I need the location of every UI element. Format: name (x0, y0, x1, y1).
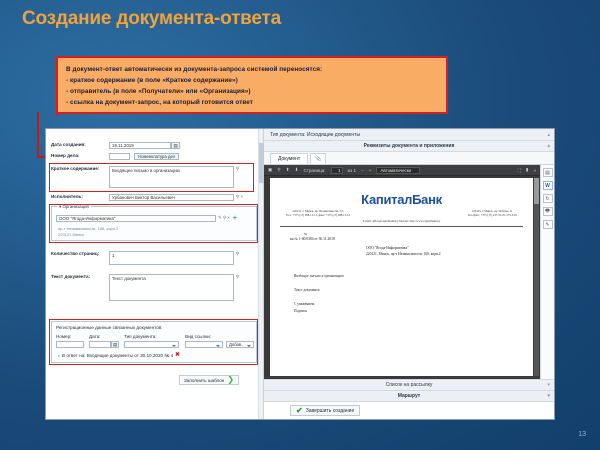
pages-input[interactable]: 1 (109, 251, 234, 265)
organization-address-line-1: пр-т Независимости, 168, корп.2 (58, 226, 118, 231)
pdf-scrollbar-thumb[interactable] (534, 178, 539, 204)
date-label: Дата создания: (51, 142, 109, 147)
check-icon: ✔ (296, 407, 303, 415)
paperclip-icon: 📎 (315, 156, 321, 162)
doctext-label: Текст документа: (51, 274, 109, 279)
arrow-right-icon: ❯ (227, 376, 234, 384)
finish-creation-label: Завершить создание (306, 408, 355, 414)
field-row-summary: Краткое содержание: Входящее письмо в ор… (51, 166, 239, 188)
linked-documents-group: Регистрационные данные связанных докумен… (51, 321, 257, 363)
slide-page-number: 13 (578, 431, 586, 438)
field-row-doctext: Текст документа: Текст документа ⚲ (51, 274, 239, 301)
more-tools-icon[interactable]: » (533, 168, 536, 173)
callout-line-1: В документ-ответ автоматически из докуме… (66, 66, 322, 73)
linked-date-calendar-icon[interactable]: ▤ (111, 341, 119, 348)
letter-reference-line: на № 1-60/0384 от 30.11.2018 (290, 237, 335, 241)
bank-address-left: 220141, г. Минск, пр. Независимости, 5/3… (286, 209, 350, 217)
finish-bar: ✔ Завершить создание (264, 401, 554, 419)
letter-number-mark: № (304, 232, 307, 236)
refresh-icon[interactable]: ↻ (543, 194, 553, 203)
print-icon[interactable]: ▮ (526, 167, 529, 173)
letter-body-line-2: Текст документа (294, 288, 319, 292)
pdf-page: КапиталБанк 220141, г. Минск, пр. Незави… (270, 178, 533, 376)
linked-remove-icon[interactable]: ✖ (175, 353, 180, 359)
field-row-case-number: Номер дела: Номенклатура дел (51, 153, 179, 160)
organization-edit-icon[interactable]: ✎ (218, 215, 222, 221)
organization-group-label: ▾ Организация (57, 204, 91, 210)
fit-screen-icon[interactable]: ⛶ (518, 168, 521, 173)
organization-clear-icon[interactable]: × (227, 215, 230, 220)
requisites-caret-icon[interactable]: ▴ (547, 143, 550, 149)
route-caret-icon[interactable]: ▾ (547, 393, 550, 399)
word-export-icon[interactable]: W (543, 181, 553, 190)
linked-date-input[interactable] (89, 341, 111, 348)
page-number-input[interactable]: 1 (331, 167, 343, 174)
zoom-in-icon[interactable]: + (369, 168, 372, 173)
pdf-scrollbar[interactable] (534, 178, 539, 376)
linked-linktype-select[interactable] (185, 341, 223, 348)
page-label: Страница: (303, 168, 325, 173)
calendar-icon[interactable]: ▤ (171, 142, 180, 149)
tab-document[interactable]: Документ (270, 153, 308, 164)
linked-existing-row: ▸ В ответ на: Входящие документы от 30.1… (58, 353, 180, 359)
preview-pane: Тип документа: Исходящие документы ▴ Рек… (264, 129, 554, 419)
page-title: Создание документа-ответа (22, 8, 281, 30)
organization-group: ▾ Организация ООО "Ягода-Информатика" ✎ … (51, 206, 257, 241)
organization-search-icon[interactable]: ⚲ (223, 215, 226, 221)
linked-number-input[interactable] (56, 341, 84, 348)
finish-creation-button[interactable]: ✔ Завершить создание (290, 405, 360, 416)
letter-recipient-line-1: ООО "Ягода-Информатика" (366, 246, 409, 250)
linked-existing-label: В ответ на: Входящие документы от 30.10.… (62, 353, 173, 358)
expand-icon[interactable]: ▸ (58, 353, 60, 358)
linked-section-label: Регистрационные данные связанных докумен… (56, 325, 162, 330)
organization-row: ООО "Ягода-Информатика" ✎ ⚲ × + (56, 215, 237, 222)
date-input[interactable]: 19.11.2019 (109, 142, 171, 149)
organization-input[interactable]: ООО "Ягода-Информатика" (56, 215, 216, 222)
linked-add-button[interactable]: Добав... (226, 341, 254, 348)
page-up-icon[interactable]: ⬆ (286, 167, 290, 173)
organization-add-icon[interactable]: + (233, 215, 237, 222)
doctext-textarea[interactable]: Текст документа (109, 274, 234, 301)
route-strip[interactable]: Маршрут ▾ (264, 390, 554, 401)
field-row-date: Дата создания: 19.11.2019 ▤ (51, 142, 180, 149)
sidebar-toggle-icon[interactable]: ▣ (268, 167, 272, 173)
tab-attachment[interactable]: 📎 (310, 153, 326, 164)
mailing-list-strip[interactable]: Список на рассылку ▾ (264, 379, 554, 390)
executor-clear-icon[interactable]: × (240, 194, 243, 199)
fill-template-label: Заполнить шаблон (184, 378, 224, 383)
page-down-icon[interactable]: ⬇ (295, 167, 299, 173)
zoom-out-icon[interactable]: − (361, 168, 364, 173)
doctext-search-icon[interactable]: ⚲ (236, 274, 239, 280)
letter-recipient-line-2: 220121, Минск, пр-т Независимости, 168, … (366, 252, 441, 256)
leader-line-vertical (37, 112, 39, 158)
page-total-label: из 1 (348, 168, 357, 173)
pages-search-icon[interactable]: ⚲ (236, 251, 239, 257)
nomenclature-button[interactable]: Номенклатура дел (134, 153, 179, 160)
letter-body-line-1: Входящее письмо в организацию (294, 274, 344, 278)
linked-doctype-select[interactable] (124, 341, 179, 348)
save-icon[interactable]: ▤ (543, 168, 553, 177)
form-pane: Дата создания: 19.11.2019 ▤ Номер дела: … (46, 129, 264, 419)
bank-logo-text: КапиталБанк (361, 192, 442, 207)
case-number-input[interactable] (109, 153, 130, 160)
letterhead-divider (280, 226, 523, 227)
bank-email-line: E-mail: office@capitalbank.by Internet: … (363, 219, 441, 223)
print-icon[interactable]: 🖶 (543, 207, 553, 216)
strip-caret-icon[interactable]: ▴ (547, 132, 550, 138)
fill-template-button[interactable]: Заполнить шаблон ❯ (179, 375, 239, 385)
document-type-strip: Тип документа: Исходящие документы ▴ (264, 129, 554, 141)
organization-address-line-2: 220121 Минск (58, 232, 84, 237)
callout-line-2: - краткое содержание (в поле «Краткое со… (66, 77, 238, 84)
linked-number-label: Номер: (56, 334, 71, 339)
letter-signoff-line-2: Подпись (294, 309, 307, 313)
application-window: Дата создания: 19.11.2019 ▤ Номер дела: … (45, 128, 555, 420)
pages-label: Количество страниц: (51, 251, 109, 256)
edit-icon[interactable]: ✎ (543, 220, 553, 229)
summary-textarea[interactable]: Входящее письмо в организацию (109, 166, 234, 188)
tab-bar: Документ 📎 (264, 152, 554, 165)
summary-label: Краткое содержание: (51, 166, 109, 171)
callout-line-4: - ссылка на документ-запрос, на который … (66, 99, 253, 106)
case-number-label: Номер дела: (51, 153, 109, 158)
linked-linktype-label: Вид ссылки: (185, 334, 211, 339)
slide-canvas: Создание документа-ответа В документ-отв… (0, 0, 600, 450)
summary-search-icon[interactable]: ⚲ (236, 166, 239, 172)
mailing-list-caret-icon[interactable]: ▾ (547, 382, 550, 388)
linked-date-label: Дата: (89, 334, 100, 339)
requisites-strip: Реквизиты документа и приложения ▴ (264, 141, 554, 152)
executor-input[interactable]: Урбанович Виктор Васильевич (109, 194, 234, 201)
letter-signoff-line-1: С уважением, (294, 302, 315, 306)
callout-box: В документ-ответ автоматически из докуме… (56, 56, 448, 114)
search-icon[interactable]: ⚲ (277, 167, 280, 173)
action-rail: ▤ W ↻ 🖶 ✎ (540, 165, 554, 379)
linked-doctype-label: Тип документа: (124, 334, 157, 339)
field-row-pages: Количество страниц: 1 ⚲ (51, 251, 239, 265)
executor-search-icon[interactable]: ⚲ (236, 194, 239, 200)
bank-address-right: 220145, г. Минск, пр. Победы, 11 Тел./фа… (467, 209, 517, 217)
form-scrollbar[interactable] (258, 129, 263, 419)
callout-stem (56, 114, 58, 116)
zoom-select[interactable]: Автоматически (376, 167, 420, 174)
field-row-executor: Исполнитель: Урбанович Виктор Васильевич… (51, 194, 243, 201)
executor-label: Исполнитель: (51, 194, 109, 199)
pdf-toolbar: ▣ ⚲ ⬆ ⬇ Страница: 1 из 1 − + Автоматичес… (264, 165, 540, 176)
pdf-viewer: ▣ ⚲ ⬆ ⬇ Страница: 1 из 1 − + Автоматичес… (264, 165, 540, 379)
callout-line-3: - отправитель (в поле «Получатели» или «… (66, 88, 251, 95)
